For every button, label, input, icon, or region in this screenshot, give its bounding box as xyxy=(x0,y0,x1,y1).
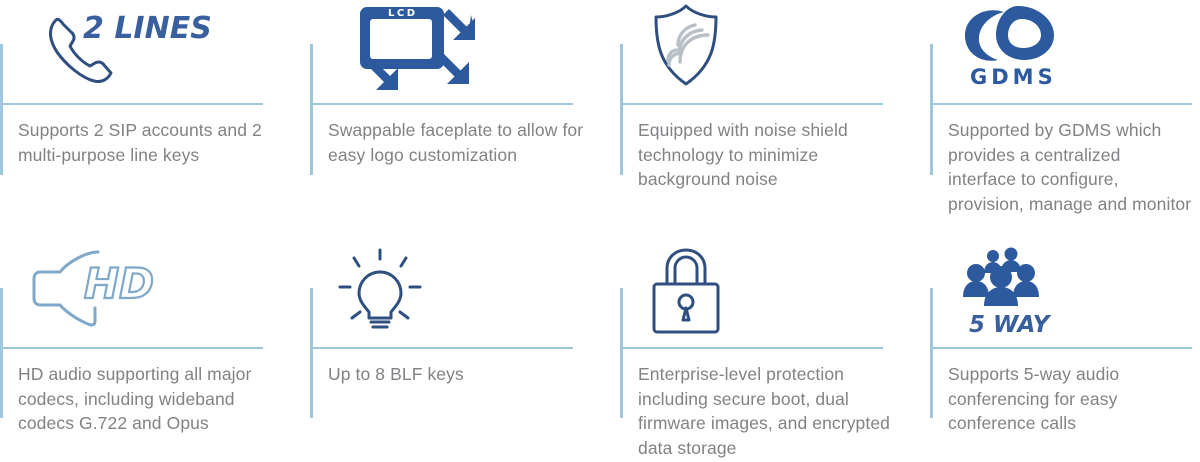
feature-description: Up to 8 BLF keys xyxy=(328,362,600,387)
cell-vertical-rule xyxy=(930,44,933,175)
cell-horizontal-rule xyxy=(310,347,573,349)
icon-wordmark: HD xyxy=(84,259,154,308)
lcd-faceplate-swap-icon: LCD xyxy=(336,2,476,94)
arrow-top-right-icon xyxy=(443,9,475,40)
feature-grid: 2 LINES Supports 2 SIP accounts and 2 mu… xyxy=(0,0,1200,462)
feature-description: Enterprise-level protection including se… xyxy=(638,362,910,460)
feature-row-top: 2 LINES Supports 2 SIP accounts and 2 mu… xyxy=(0,0,1200,232)
icon-area xyxy=(328,244,620,340)
feature-description: HD audio supporting all major codecs, in… xyxy=(18,362,290,436)
icon-wordmark: 5 WAY xyxy=(969,312,1052,338)
icon-wordmark: LCD xyxy=(388,8,418,19)
cell-horizontal-rule xyxy=(0,103,263,105)
cell-vertical-rule xyxy=(930,288,933,418)
feature-cell-noise-shield: Equipped with noise shield technology to… xyxy=(620,0,930,232)
cell-horizontal-rule xyxy=(620,103,883,105)
cell-vertical-rule xyxy=(0,44,3,175)
feature-description: Equipped with noise shield technology to… xyxy=(638,118,910,192)
cell-vertical-rule xyxy=(620,288,623,418)
phone-handset-2-lines-icon: 2 LINES xyxy=(26,2,206,94)
cell-horizontal-rule xyxy=(620,347,883,349)
icon-area: LCD xyxy=(328,0,620,96)
icon-area: HD xyxy=(18,244,310,340)
feature-cell-security: Enterprise-level protection including se… xyxy=(620,244,930,462)
noise-shield-icon xyxy=(646,2,746,94)
padlock-icon xyxy=(646,246,746,338)
icon-wordmark: GDMS xyxy=(970,65,1057,89)
feature-cell-conference: 5 WAY Supports 5-way audio conferencing … xyxy=(930,244,1192,462)
feature-cell-gdms: GDMS Supported by GDMS which provides a … xyxy=(930,0,1192,232)
arrow-bottom-right-icon xyxy=(438,54,469,84)
feature-cell-2-lines: 2 LINES Supports 2 SIP accounts and 2 mu… xyxy=(0,0,310,232)
cell-horizontal-rule xyxy=(0,347,263,349)
cell-vertical-rule xyxy=(0,288,3,418)
five-way-conference-people-icon: 5 WAY xyxy=(956,246,1086,338)
cell-vertical-rule xyxy=(310,44,313,175)
icon-area xyxy=(638,0,930,96)
cell-vertical-rule xyxy=(310,288,313,418)
feature-row-bottom: HD HD audio supporting all major codecs,… xyxy=(0,244,1200,462)
lightbulb-icon xyxy=(336,246,446,338)
feature-cell-faceplate: LCD xyxy=(310,0,620,232)
icon-area: 5 WAY xyxy=(948,244,1192,340)
cell-horizontal-rule xyxy=(930,103,1192,105)
icon-wordmark: 2 LINES xyxy=(83,11,212,46)
feature-cell-hd-audio: HD HD audio supporting all major codecs,… xyxy=(0,244,310,462)
feature-cell-blf-keys: Up to 8 BLF keys xyxy=(310,244,620,462)
feature-description: Supported by GDMS which provides a centr… xyxy=(948,118,1192,216)
icon-area: 2 LINES xyxy=(18,0,310,96)
feature-description: Supports 5-way audio conferencing for ea… xyxy=(948,362,1192,436)
light-rays-icon xyxy=(340,250,420,318)
feature-description: Supports 2 SIP accounts and 2 multi-purp… xyxy=(18,118,290,167)
icon-area xyxy=(638,244,930,340)
sound-waves-icon xyxy=(678,25,708,62)
cell-vertical-rule xyxy=(620,44,623,175)
cell-horizontal-rule xyxy=(930,347,1192,349)
cell-horizontal-rule xyxy=(310,103,573,105)
icon-area: GDMS xyxy=(948,0,1192,96)
gdms-logo-icon: GDMS xyxy=(956,2,1086,94)
hd-audio-speaker-icon: HD xyxy=(26,246,176,338)
feature-description: Swappable faceplate to allow for easy lo… xyxy=(328,118,600,167)
